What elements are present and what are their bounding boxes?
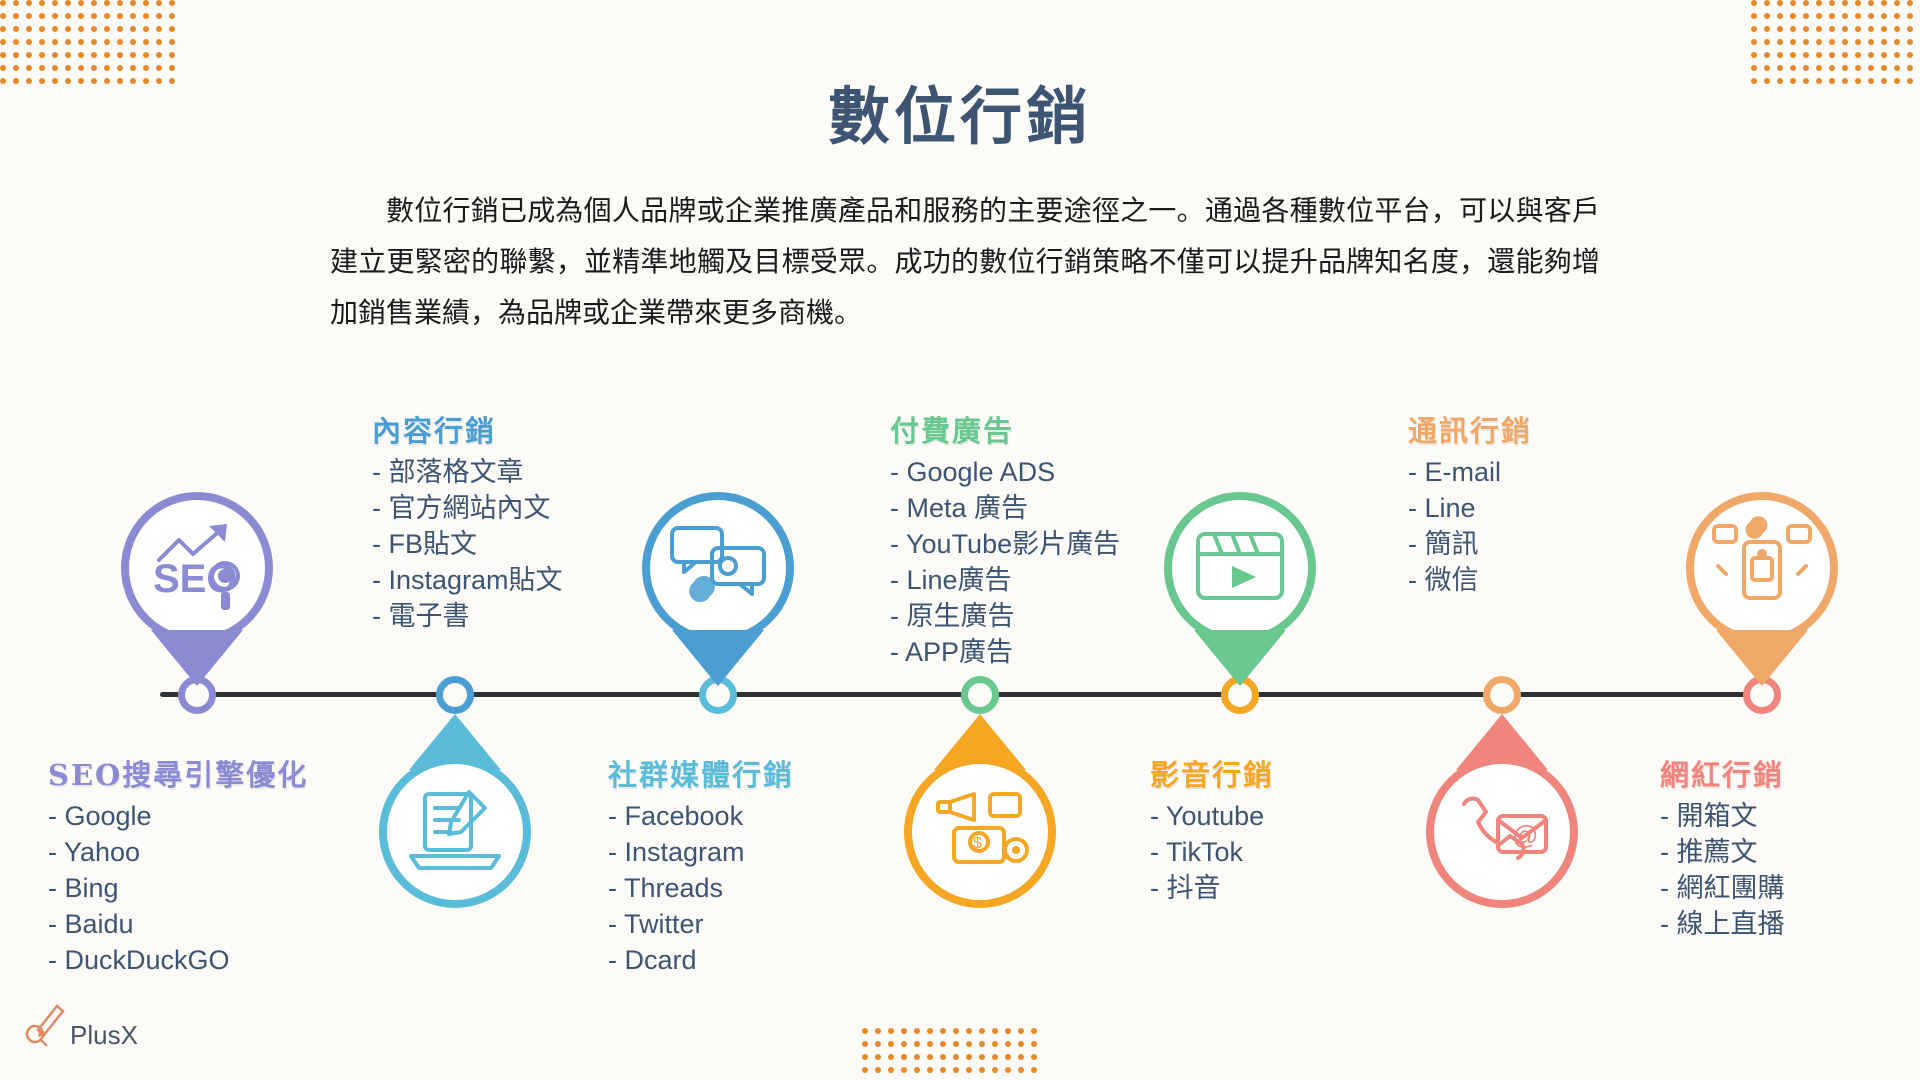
list-item: - 抖音 bbox=[1150, 870, 1274, 906]
page-title: 數位行銷 bbox=[0, 66, 1920, 156]
timeline-node-paid-ads[interactable] bbox=[961, 676, 999, 714]
film-clapper-play-icon bbox=[1188, 520, 1292, 617]
map-pin-seo[interactable]: SEO bbox=[121, 492, 273, 678]
list-item: - DuckDuckGO bbox=[48, 942, 308, 978]
map-pin-video[interactable]: $ bbox=[904, 714, 1056, 900]
map-pin-messaging[interactable] bbox=[1686, 492, 1838, 678]
laptop-writing-icon bbox=[403, 782, 507, 883]
dot-pattern-bottom-center bbox=[862, 1028, 1044, 1080]
category-title-messaging: 通訊行銷 bbox=[1408, 408, 1532, 450]
pin-tail-seo bbox=[151, 630, 243, 686]
list-item: - E-mail bbox=[1408, 454, 1532, 490]
list-item: - Bing bbox=[48, 870, 308, 906]
list-item: - Line廣告 bbox=[890, 562, 1120, 598]
list-item: - Youtube bbox=[1150, 798, 1274, 834]
pin-bulb-messaging bbox=[1686, 492, 1838, 644]
list-item: - Google ADS bbox=[890, 454, 1120, 490]
category-list-paid-ads: - Google ADS- Meta 廣告- YouTube影片廣告- Line… bbox=[890, 454, 1120, 670]
pin-bulb-influencer: @ bbox=[1426, 756, 1578, 908]
category-list-messaging: - E-mail- Line- 簡訊- 微信 bbox=[1408, 454, 1532, 598]
list-item: - 原生廣告 bbox=[890, 598, 1120, 634]
pin-tail-paid-ads bbox=[1194, 630, 1286, 686]
pin-tail-content bbox=[672, 630, 764, 686]
pin-bulb-social bbox=[379, 756, 531, 908]
category-list-seo: - Google- Yahoo- Bing- Baidu- DuckDuckGO bbox=[48, 798, 308, 978]
list-item: - Google bbox=[48, 798, 308, 834]
list-item: - Line bbox=[1408, 490, 1532, 526]
brand-name: PlusX bbox=[70, 1020, 138, 1051]
list-item: - Yahoo bbox=[48, 834, 308, 870]
list-item: - YouTube影片廣告 bbox=[890, 526, 1120, 562]
list-item: - Baidu bbox=[48, 906, 308, 942]
list-item: - 線上直播 bbox=[1660, 906, 1785, 942]
pin-bulb-seo: SEO bbox=[121, 492, 273, 644]
category-title-seo: SEO搜尋引擎優化 bbox=[48, 752, 308, 794]
list-item: - 開箱文 bbox=[1660, 798, 1785, 834]
category-block-influencer: 網紅行銷- 開箱文- 推薦文- 網紅團購- 線上直播 bbox=[1660, 752, 1785, 942]
list-item: - 簡訊 bbox=[1408, 526, 1532, 562]
category-title-video: 影音行銷 bbox=[1150, 752, 1274, 794]
category-block-content: 內容行銷- 部落格文章- 官方網站內文- FB貼文- Instagram貼文- … bbox=[372, 408, 563, 634]
pin-bulb-paid-ads bbox=[1164, 492, 1316, 644]
chat-bubbles-heart-icon bbox=[666, 518, 770, 619]
list-item: - 微信 bbox=[1408, 562, 1532, 598]
list-item: - Instagram貼文 bbox=[372, 562, 563, 598]
list-item: - 電子書 bbox=[372, 598, 563, 634]
timeline-node-content[interactable] bbox=[436, 676, 474, 714]
list-item: - 部落格文章 bbox=[372, 454, 563, 490]
category-list-social: - Facebook- Instagram- Threads- Twitter-… bbox=[608, 798, 794, 978]
svg-text:$: $ bbox=[973, 835, 982, 852]
svg-text:@: @ bbox=[1512, 820, 1538, 850]
list-item: - Twitter bbox=[608, 906, 794, 942]
pin-bulb-content bbox=[642, 492, 794, 644]
pin-call-at-icon: @ bbox=[1450, 782, 1554, 883]
intro-paragraph: 數位行銷已成為個人品牌或企業推廣產品和服務的主要途徑之一。通過各種數位平台，可以… bbox=[330, 185, 1600, 338]
list-item: - 官方網站內文 bbox=[372, 490, 563, 526]
category-block-video: 影音行銷- Youtube- TikTok- 抖音 bbox=[1150, 752, 1274, 906]
map-pin-influencer[interactable]: @ bbox=[1426, 714, 1578, 900]
map-pin-paid-ads[interactable] bbox=[1164, 492, 1316, 678]
list-item: - 推薦文 bbox=[1660, 834, 1785, 870]
list-item: - Dcard bbox=[608, 942, 794, 978]
category-list-video: - Youtube- TikTok- 抖音 bbox=[1150, 798, 1274, 906]
category-title-content: 內容行銷 bbox=[372, 408, 563, 450]
list-item: - 網紅團購 bbox=[1660, 870, 1785, 906]
category-list-content: - 部落格文章- 官方網站內文- FB貼文- Instagram貼文- 電子書 bbox=[372, 454, 563, 634]
list-item: - Meta 廣告 bbox=[890, 490, 1120, 526]
list-item: - Threads bbox=[608, 870, 794, 906]
category-title-paid-ads: 付費廣告 bbox=[890, 408, 1120, 450]
timeline-node-messaging[interactable] bbox=[1483, 676, 1521, 714]
phone-envelope-at-icon bbox=[1710, 516, 1814, 621]
category-block-seo: SEO搜尋引擎優化- Google- Yahoo- Bing- Baidu- D… bbox=[48, 752, 308, 978]
pencil-search-icon bbox=[24, 1000, 66, 1051]
pin-tail-messaging bbox=[1716, 630, 1808, 686]
megaphone-screen-icon: $ bbox=[928, 782, 1032, 883]
list-item: - Facebook bbox=[608, 798, 794, 834]
list-item: - Instagram bbox=[608, 834, 794, 870]
category-list-influencer: - 開箱文- 推薦文- 網紅團購- 線上直播 bbox=[1660, 798, 1785, 942]
brand-logo: PlusX bbox=[24, 1000, 138, 1051]
category-block-paid-ads: 付費廣告- Google ADS- Meta 廣告- YouTube影片廣告- … bbox=[890, 408, 1120, 670]
category-block-messaging: 通訊行銷- E-mail- Line- 簡訊- 微信 bbox=[1408, 408, 1532, 598]
category-block-social: 社群媒體行銷- Facebook- Instagram- Threads- Tw… bbox=[608, 752, 794, 978]
map-pin-social[interactable] bbox=[379, 714, 531, 900]
category-title-social: 社群媒體行銷 bbox=[608, 752, 794, 794]
category-title-influencer: 網紅行銷 bbox=[1660, 752, 1785, 794]
map-pin-content[interactable] bbox=[642, 492, 794, 678]
seo-growth-chart-icon: SEO bbox=[145, 514, 249, 623]
pin-bulb-video: $ bbox=[904, 756, 1056, 908]
list-item: - APP廣告 bbox=[890, 634, 1120, 670]
list-item: - TikTok bbox=[1150, 834, 1274, 870]
list-item: - FB貼文 bbox=[372, 526, 563, 562]
